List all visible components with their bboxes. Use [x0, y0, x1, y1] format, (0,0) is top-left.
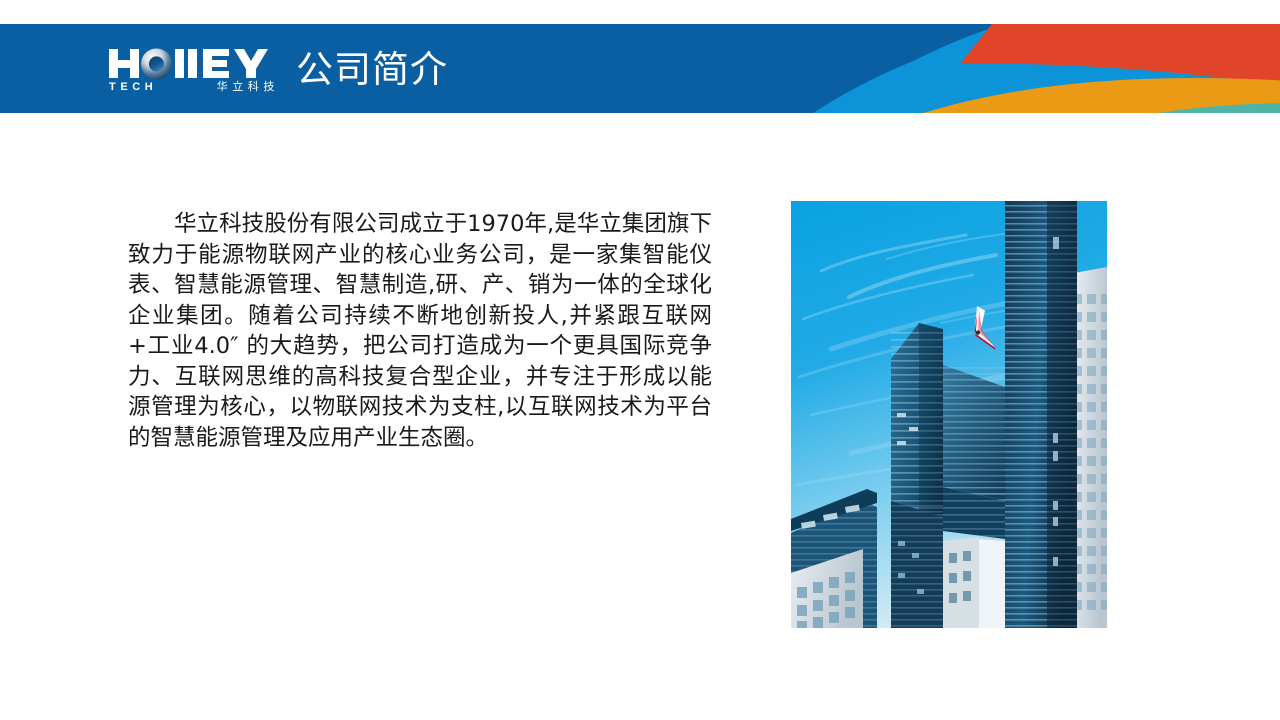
logo-subtitle-row: TECH 华立科技: [108, 80, 280, 94]
logo-wordmark-holley: [108, 47, 280, 80]
logo-subtitle-latin: TECH: [109, 80, 157, 94]
logo-subtitle-cjk: 华立科技: [217, 80, 279, 94]
holley-tech-logo: TECH 华立科技: [108, 47, 280, 97]
company-building-photo: [791, 201, 1107, 628]
slide-canvas: TECH 华立科技 公司简介 华立科技股份有限公司成立于1970年,是华立集团旗…: [0, 0, 1280, 720]
page-title: 公司简介: [296, 46, 448, 94]
company-intro-paragraph: 华立科技股份有限公司成立于1970年,是华立集团旗下致力于能源物联网产业的核心业…: [128, 209, 712, 453]
